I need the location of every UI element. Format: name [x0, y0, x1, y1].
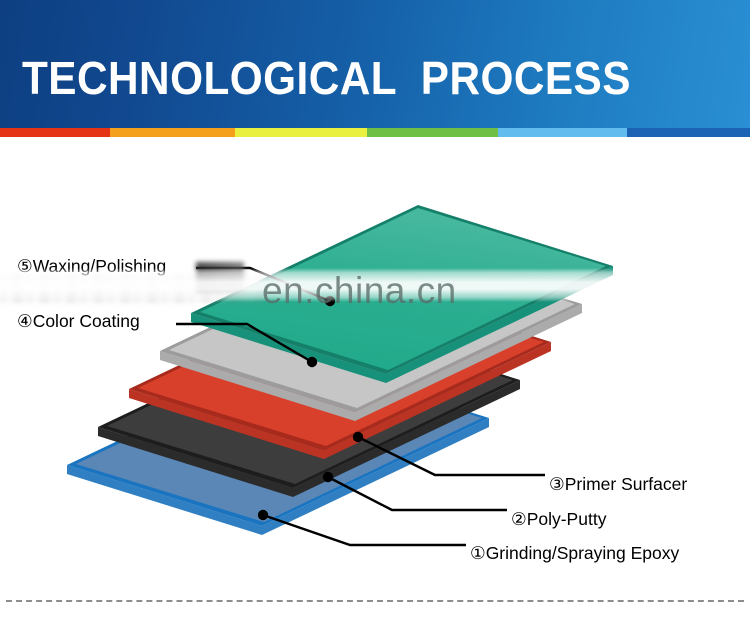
label-primer-surfacer: ③Primer Surfacer [549, 474, 687, 494]
color-strip-segment-red [0, 128, 110, 137]
color-strip-segment-orange [110, 128, 236, 137]
label-waxing-polishing: ⑤Waxing/Polishing [17, 256, 166, 276]
color-strip-segment-green [367, 128, 498, 137]
leader-dot-waxing [325, 296, 335, 306]
bottom-divider [6, 600, 744, 602]
label-color-coating: ④Color Coating [17, 311, 140, 331]
leader-dot-grinding [258, 510, 268, 520]
color-strip-segment-light-blue [498, 128, 627, 137]
label-grinding-spraying-epoxy: ①Grinding/Spraying Epoxy [470, 543, 679, 563]
leader-dot-putty [323, 472, 333, 482]
leader-dot-primer [353, 432, 363, 442]
page-root: TECHNOLOGICAL PROCESS [0, 0, 750, 620]
color-strip-segment-blue [627, 128, 750, 137]
label-poly-putty: ②Poly-Putty [511, 509, 606, 529]
process-layer-diagram [0, 137, 750, 600]
color-strip-segment-yellow [235, 128, 367, 137]
page-title: TECHNOLOGICAL PROCESS [22, 55, 631, 101]
leader-dot-color [307, 357, 317, 367]
header-banner: TECHNOLOGICAL PROCESS [0, 0, 750, 128]
color-accent-strip [0, 128, 750, 137]
